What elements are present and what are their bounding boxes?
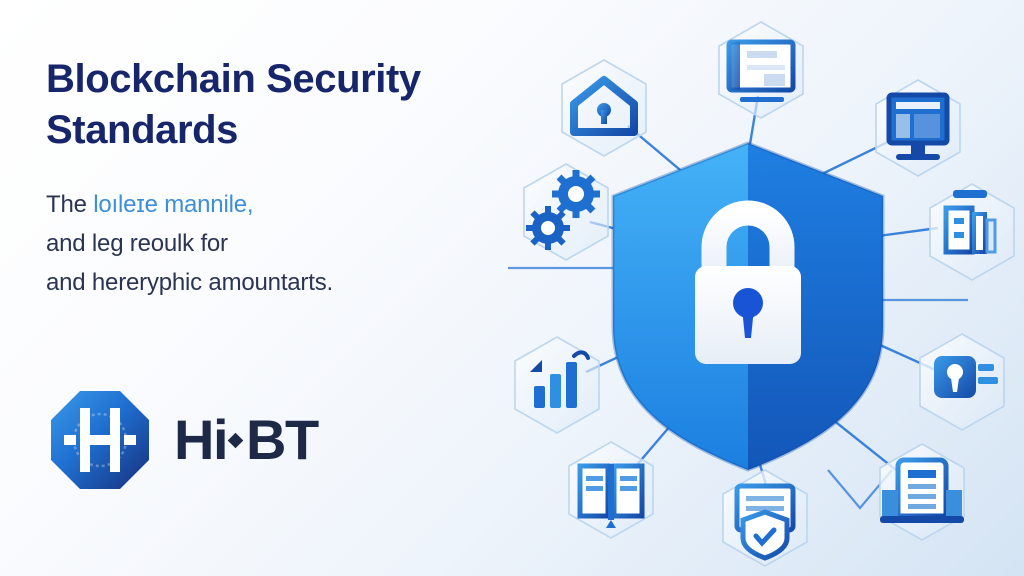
security-network-graphic	[468, 0, 1024, 576]
subtitle-line-2: and leg reoulk for	[46, 230, 228, 257]
banner-root: Blockchain Security Standards The loıleɪ…	[0, 0, 1024, 576]
hex-node-server[interactable]	[880, 444, 964, 540]
hibt-octagon-logo-icon	[48, 388, 152, 492]
text-panel: Blockchain Security Standards The loıleɪ…	[46, 54, 486, 303]
hex-node-key-badge[interactable]	[920, 334, 1004, 430]
hex-node-gears[interactable]	[524, 164, 608, 260]
subtitle-line-1-highlight: loıleɪe mannile,	[93, 191, 253, 218]
security-shield[interactable]	[613, 143, 883, 470]
title-line-1: Blockchain Security	[46, 57, 421, 101]
subtitle-line-3: and hereryphic amountarts.	[46, 269, 333, 296]
hex-node-certificate[interactable]	[723, 470, 807, 566]
hex-node-analytics[interactable]	[515, 337, 599, 433]
hex-node-home-lock[interactable]	[562, 60, 646, 156]
hex-node-desktop[interactable]	[876, 80, 960, 176]
hex-node-browser[interactable]	[719, 22, 803, 118]
certificate-shield-icon	[737, 486, 793, 558]
brand-logo[interactable]: Hi BT	[48, 388, 318, 492]
subtitle-line-1-prefix: The	[46, 191, 93, 218]
hex-node-documents[interactable]	[930, 184, 1014, 280]
title-line-2: Standards	[46, 108, 238, 152]
hex-node-book[interactable]	[569, 442, 653, 538]
wordmark-separator-icon	[228, 432, 244, 448]
page-title: Blockchain Security Standards	[46, 54, 486, 156]
subtitle: The loıleɪe mannile, and leg reoulk for …	[46, 186, 486, 303]
wordmark-suffix: BT	[246, 412, 318, 468]
open-book-icon	[580, 464, 642, 528]
wordmark-prefix: Hi	[174, 412, 227, 468]
brand-wordmark: Hi BT	[174, 412, 318, 468]
